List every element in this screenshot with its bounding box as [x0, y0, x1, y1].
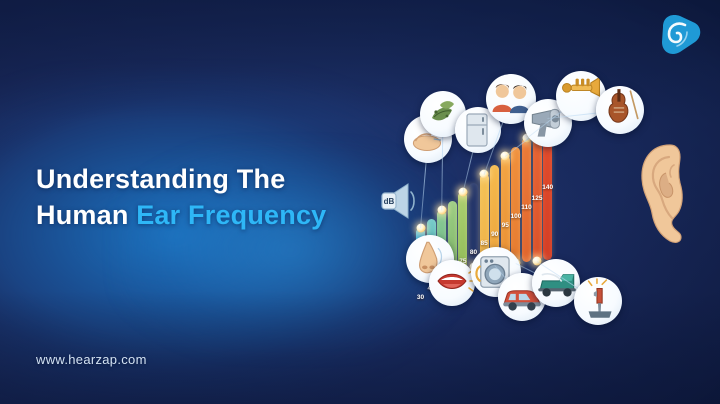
- decibel-bar: 110: [522, 138, 531, 262]
- title-plain: Human: [36, 200, 136, 230]
- decibel-bar: 75: [458, 192, 467, 268]
- title-line-2: Human Ear Frequency: [36, 197, 326, 233]
- decibel-bar: 125: [533, 129, 542, 261]
- decibel-bar-label: 110: [521, 204, 532, 211]
- lawn-mower-icon[interactable]: [532, 259, 580, 307]
- title-accent: Ear Frequency: [136, 200, 326, 230]
- decibel-bar-label: 100: [510, 213, 521, 220]
- jackhammer-icon[interactable]: [574, 277, 622, 325]
- site-url[interactable]: www.hearzap.com: [36, 352, 147, 367]
- decibel-bar-label: 140: [542, 184, 553, 191]
- decibel-bar-label: 125: [532, 195, 543, 202]
- decibel-bar-label: 95: [502, 222, 509, 229]
- title-line-1: Understanding The: [36, 161, 326, 197]
- infographic-banner: Understanding The Human Ear Frequency ww…: [0, 0, 720, 404]
- decibel-bar-label: 90: [491, 231, 498, 238]
- hearzap-logo[interactable]: [656, 12, 702, 56]
- decibel-bar-label: 30: [417, 294, 424, 301]
- decibel-bar: 100: [511, 147, 520, 263]
- violin-icon[interactable]: [596, 86, 644, 134]
- talking-mouth-icon[interactable]: [429, 260, 475, 306]
- page-title: Understanding The Human Ear Frequency: [36, 161, 326, 233]
- decibel-bar-label: 85: [480, 240, 487, 247]
